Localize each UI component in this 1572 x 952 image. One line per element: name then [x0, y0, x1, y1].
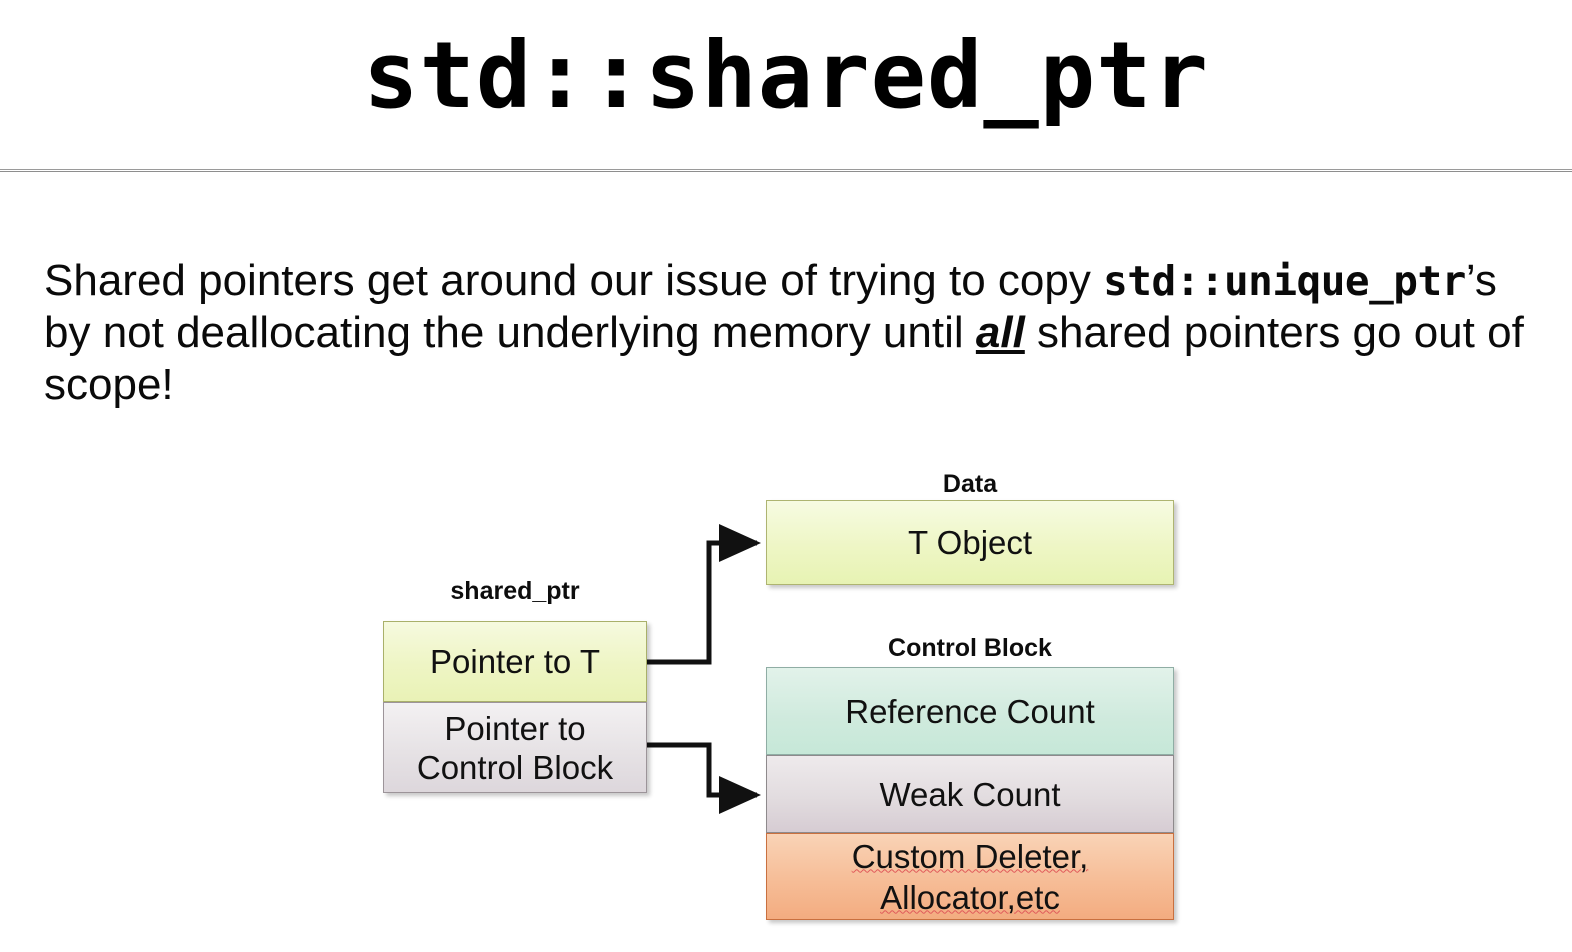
- control-block-row-reference-count: Reference Count: [766, 667, 1174, 755]
- control-block-row-custom-deleter: Custom Deleter, Allocator,etc: [766, 833, 1174, 920]
- data-caption: Data: [766, 469, 1174, 499]
- data-row-t-object: T Object: [766, 500, 1174, 585]
- control-block-box: Reference Count Weak Count Custom Delete…: [766, 667, 1174, 920]
- pointer-to-t-arrow: [647, 543, 757, 662]
- shared-ptr-diagram: shared_ptr Data Control Block Pointer to…: [0, 0, 1572, 952]
- control-block-caption: Control Block: [766, 633, 1174, 663]
- pointer-to-control-block-line2: Control Block: [417, 748, 613, 787]
- data-box: T Object: [766, 500, 1174, 585]
- control-block-row-weak-count: Weak Count: [766, 755, 1174, 833]
- pointer-to-control-block-line1: Pointer to: [444, 709, 585, 748]
- custom-deleter-line2: Allocator,etc: [880, 877, 1060, 918]
- shared-ptr-box: Pointer to T Pointer to Control Block: [383, 621, 647, 793]
- shared-ptr-row-pointer-to-t: Pointer to T: [383, 621, 647, 702]
- custom-deleter-line1: Custom Deleter,: [852, 836, 1089, 877]
- shared-ptr-caption: shared_ptr: [383, 576, 647, 606]
- shared-ptr-row-pointer-to-control-block: Pointer to Control Block: [383, 702, 647, 793]
- pointer-to-control-block-arrow: [647, 745, 757, 795]
